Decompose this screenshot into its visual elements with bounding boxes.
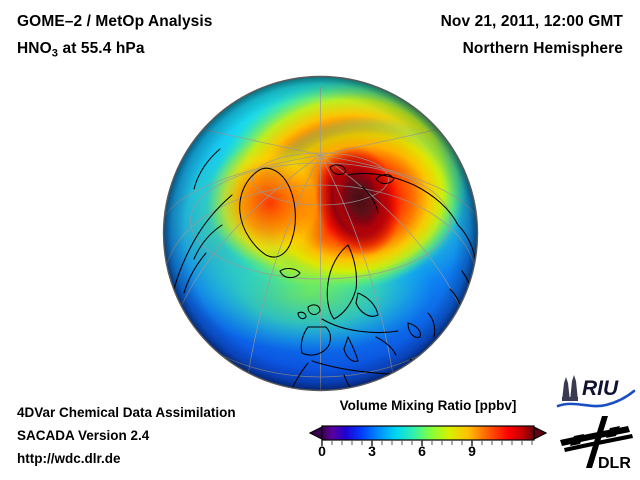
riu-wordmark: RIU	[582, 377, 619, 400]
observation-datetime: Nov 21, 2011, 12:00 GMT	[441, 13, 623, 31]
colorbar-tick-label-0: 0	[307, 443, 337, 459]
riu-logo: RIU	[556, 371, 636, 411]
footer-url[interactable]: http://wdc.dlr.de	[17, 451, 121, 466]
page-title-instrument: GOME–2 / MetOp Analysis	[17, 13, 213, 31]
colorbar-tick-label-9: 9	[457, 443, 487, 459]
dlr-logo: DLR	[558, 414, 638, 472]
colorbar-tick-label-3: 3	[357, 443, 387, 459]
species-formula-suffix: at 55.4 hPa	[58, 40, 145, 57]
globe-map	[162, 75, 479, 392]
region-label: Northern Hemisphere	[463, 40, 623, 58]
cathedral-spires-icon	[562, 375, 578, 401]
colorbar-title: Volume Mixing Ratio [ppbv]	[306, 398, 550, 413]
dlr-wordmark: DLR	[598, 455, 631, 472]
page-title-species: HNO3 at 55.4 hPa	[17, 40, 145, 60]
species-formula-prefix: HNO	[17, 40, 52, 57]
colorbar-scale	[306, 416, 550, 446]
footer-version: SACADA Version 2.4	[17, 428, 149, 443]
colorbar: Volume Mixing Ratio [ppbv]	[306, 398, 550, 470]
footer-method: 4DVar Chemical Data Assimilation	[17, 405, 236, 420]
colorbar-high-arrow	[534, 427, 546, 439]
colorbar-tick-label-6: 6	[407, 443, 437, 459]
colorbar-low-arrow	[310, 427, 322, 439]
